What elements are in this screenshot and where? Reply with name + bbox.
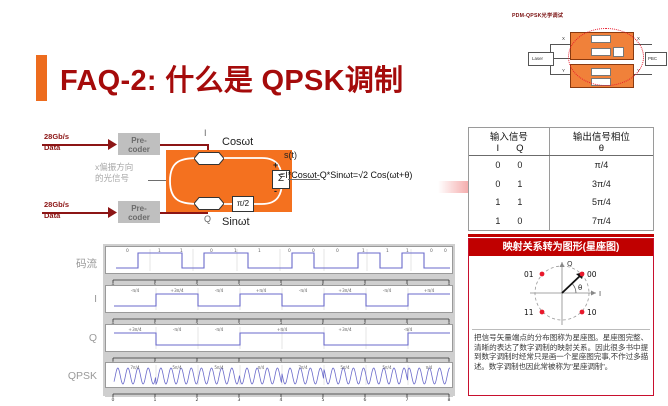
constellation-header: 映射关系转为图形(星座图) [469,239,653,256]
svg-text:5π/4: 5π/4 [172,365,182,370]
svg-text:+π/4: +π/4 [277,327,288,333]
precoder-top-out-line [160,144,208,146]
thumbnail-title: PDM-QPSK光学调试 [512,12,664,19]
arm-bottom-label: Sinωt [222,216,250,228]
page-title: FAQ-2: 什么是 QPSK调制 [60,57,403,99]
table-cell-i: 1 [487,197,509,207]
waveform-plot-qpsk: 7π/45π/45π/4 π/47π/45π/4 5π/4π/4 [105,362,453,388]
table-cell-i: 0 [487,179,509,189]
constellation-plot: Q I θ 00 01 11 10 [472,257,650,330]
constellation-description: 把信号矢量端点的分布图称为星座图。星座图完整、清晰的表达了数字调制的映射关系。因… [469,330,653,371]
sum-plus-sign: + [273,160,278,170]
input-top-arrowhead [108,139,118,150]
input-bottom-signal: Data [44,212,60,221]
waveform-plot-bitstream: 011 011 000 111 00 [105,246,453,274]
waveform-axis-qpsk: 012 345 678 [105,388,453,397]
table-cell-iq: 11 [469,193,549,211]
svg-text:1: 1 [406,248,409,254]
svg-text:0: 0 [312,248,315,254]
svg-text:5π/4: 5π/4 [382,365,392,370]
optical-input-line2: 的光信号 [95,173,157,184]
svg-text:-π/4: -π/4 [404,327,413,333]
table-row: 013π/4 [469,175,653,193]
svg-text:7π/4: 7π/4 [298,365,308,370]
constellation-axis-i: I [599,290,601,298]
table-cell-theta: π/4 [549,156,653,175]
table-header-row: 输入信号 IQ 输出信号相位 θ [469,128,653,156]
svg-text:1: 1 [154,397,157,401]
axis-ticks-qpsk: 012 345 678 [105,392,453,401]
pdm-qpsk-thumbnail[interactable]: PDM-QPSK光学调试 Laser PBC X Y X Y [512,12,664,84]
waveform-label-bitstream: 码流 [55,256,97,271]
constellation-label-10: 10 [587,308,597,317]
thumb-port-y-label: Y [562,68,565,73]
table-header-output-title: 输出信号相位 [550,129,653,143]
branch-i-label: I [204,128,207,138]
svg-text:π/4: π/4 [426,365,433,370]
constellation-box: 映射关系转为图形(星座图) Q I θ 00 01 11 10 把信 [468,238,654,396]
precoder-bottom-line2: coder [118,213,160,222]
input-bottom-arrowhead [108,207,118,218]
svg-text:5π/4: 5π/4 [214,365,224,370]
table-cell-theta: 5π/4 [549,193,653,211]
table-header-input-title: 输入信号 [469,129,549,143]
svg-text:0: 0 [126,248,129,254]
constellation-point-10 [580,310,585,315]
arm-top-label: Cosωt [222,136,253,148]
table-cell-theta: 3π/4 [549,175,653,193]
constellation-label-01: 01 [524,270,534,279]
svg-text:4: 4 [280,397,283,401]
svg-text:1: 1 [258,248,261,254]
branch-q-label: Q [204,214,211,224]
svg-text:6: 6 [364,397,367,401]
output-equation: =I*Cosωt-Q*Sinωt=√2 Cos(ωt+θ) [280,170,412,180]
waveform-trace-qpsk: 7π/45π/45π/4 π/47π/45π/4 5π/4π/4 [106,363,454,387]
thumbnail-highlight-ellipse [568,28,644,86]
svg-text:7: 7 [406,397,409,401]
truth-table: 输入信号 IQ 输出信号相位 θ 00π/4013π/4115π/4107π/4 [468,127,654,231]
svg-text:0: 0 [288,248,291,254]
table-header-output: 输出信号相位 θ [549,128,653,156]
table-cell-iq: 00 [469,156,549,175]
waveform-panel: 码流 011 011 000 111 00 [103,244,455,396]
svg-text:-π/4: -π/4 [215,327,224,333]
svg-text:+π/4: +π/4 [256,288,267,294]
svg-text:1: 1 [362,248,365,254]
svg-text:π/4: π/4 [258,365,265,370]
table-cell-iq: 10 [469,212,549,230]
precoder-top-line2: coder [118,145,160,154]
svg-text:8: 8 [448,397,451,401]
table-cell-q: 0 [509,216,531,226]
svg-text:+3π/4: +3π/4 [338,288,352,294]
waveform-label-i: I [55,293,97,305]
table-underline-bar [468,234,654,237]
svg-text:-π/4: -π/4 [131,288,140,294]
thumb-line-out-bottom [634,74,652,75]
table-row: 107π/4 [469,212,653,230]
thumb-laser-label: Laser [532,56,543,61]
svg-text:-π/4: -π/4 [173,327,182,333]
optical-input-line1: x偏振方向 [95,162,157,173]
waveform-axis-bitstream: 012 345 678 [105,274,453,283]
output-label: s(t) [284,150,297,160]
svg-text:+3π/4: +3π/4 [170,288,184,294]
table-cell-i: 1 [487,216,509,226]
table-row: 115π/4 [469,193,653,211]
phase-shifter-box: π/2 [232,196,254,212]
svg-text:7π/4: 7π/4 [130,365,140,370]
table-cell-q: 0 [509,160,531,170]
constellation-axis-q: Q [567,260,573,268]
svg-text:0: 0 [336,248,339,254]
svg-text:1: 1 [180,248,183,254]
input-top-signal: Data [44,144,60,153]
constellation-label-00: 00 [587,270,597,279]
waveform-label-qpsk: QPSK [55,370,97,382]
svg-text:1: 1 [234,248,237,254]
constellation-point-00 [580,272,585,277]
constellation-label-11: 11 [524,308,534,317]
svg-text:0: 0 [112,397,115,401]
svg-text:+3π/4: +3π/4 [128,327,142,333]
svg-text:-π/4: -π/4 [383,288,392,294]
precoder-bottom-line1: Pre- [118,204,160,213]
precoder-bottom: Pre- coder [118,201,160,223]
constellation-diagram: Q I θ 00 01 11 10 [472,257,652,329]
table-cell-iq: 01 [469,175,549,193]
table-cell-q: 1 [509,179,531,189]
table-cell-q: 1 [509,197,531,207]
table-row: 00π/4 [469,156,653,175]
svg-text:0: 0 [210,248,213,254]
table-header-input: 输入信号 IQ [469,128,549,156]
constellation-angle-label: θ [578,284,582,292]
constellation-point-01 [540,272,545,277]
svg-text:0: 0 [430,248,433,254]
table-header-theta: θ [550,143,653,154]
svg-text:1: 1 [386,248,389,254]
precoder-top: Pre- coder [118,133,160,155]
waveform-plot-i: -π/4+3π/4-π/4 +π/4-π/4+3π/4 -π/4+π/4 [105,285,453,313]
thumb-line-up [550,44,570,45]
table-cell-i: 0 [487,160,509,170]
mzm-electrode-i [194,152,224,165]
precoder-bottom-out-line [160,212,208,214]
thumb-pbc-label: PBC [648,56,657,61]
qpsk-modulator-diagram: 28Gb/s Data Pre- coder I 28Gb/s Data Pre… [40,128,460,238]
sum-minus-sign: - [274,186,277,196]
svg-text:5π/4: 5π/4 [340,365,350,370]
mzm-electrode-q [194,197,224,210]
waveform-axis-i: 012 345 678 [105,313,453,322]
svg-text:5: 5 [322,397,325,401]
svg-text:+π/4: +π/4 [424,288,435,294]
svg-text:0: 0 [444,248,447,254]
precoder-top-line1: Pre- [118,136,160,145]
thumb-laser-box: Laser [528,52,554,66]
waveform-trace-i: -π/4+3π/4-π/4 +π/4-π/4+3π/4 -π/4+π/4 [106,286,454,312]
svg-text:2: 2 [196,397,199,401]
thumb-port-x-label: X [562,36,565,41]
table-cell-theta: 7π/4 [549,212,653,230]
waveform-trace-bitstream: 011 011 000 111 00 [106,247,454,273]
waveform-label-q: Q [55,332,97,344]
constellation-point-11 [540,310,545,315]
waveform-trace-q: +3π/4-π/4-π/4 +π/4+3π/4-π/4 [106,325,454,351]
thumb-pbc-box: PBC [645,52,667,66]
input-bottom-rate: 28Gb/s [44,201,69,210]
table-header-q: Q [509,143,531,154]
svg-text:1: 1 [158,248,161,254]
svg-text:3: 3 [238,397,241,401]
title-accent-bar [36,55,47,101]
table-header-i: I [487,143,509,154]
svg-text:-π/4: -π/4 [299,288,308,294]
svg-text:-π/4: -π/4 [215,288,224,294]
waveform-plot-q: +3π/4-π/4-π/4 +π/4+3π/4-π/4 [105,324,453,352]
waveform-axis-q: 012 345 678 [105,352,453,361]
input-top-rate: 28Gb/s [44,133,69,142]
thumb-line-down [550,74,570,75]
svg-text:+3π/4: +3π/4 [338,327,352,333]
